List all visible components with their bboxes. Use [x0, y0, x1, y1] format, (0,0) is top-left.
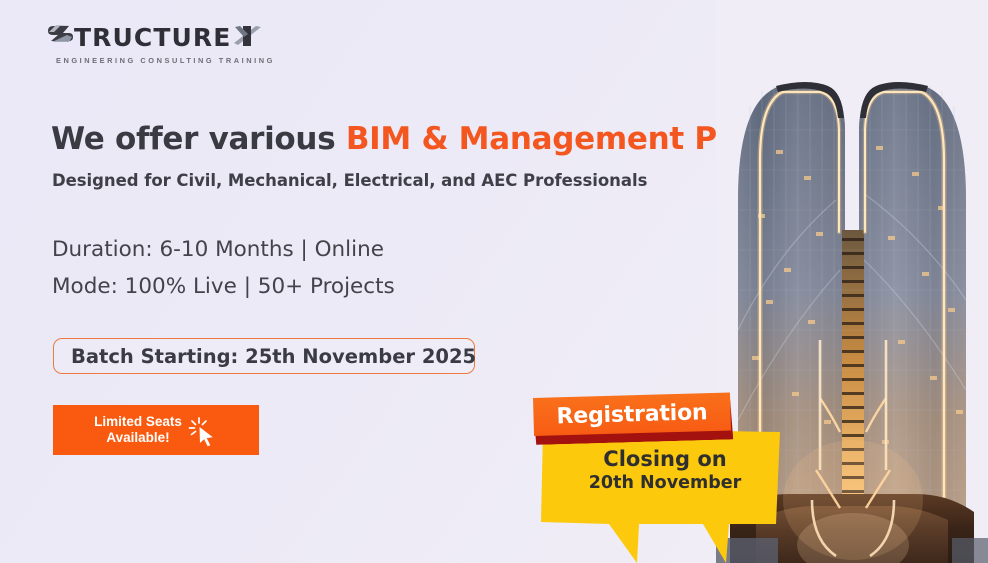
logo-svg: TRUCTURE — [47, 22, 262, 53]
logo-wordmark: TRUCTURE — [47, 22, 262, 52]
limited-seats-button[interactable]: Limited Seats Available! — [53, 405, 259, 455]
batch-starting-label: Batch Starting: 25th November 2025 — [71, 345, 476, 368]
batch-starting-box: Batch Starting: 25th November 2025 — [53, 338, 475, 374]
registration-ribbon: Registration — [533, 392, 733, 440]
click-cursor-icon — [188, 416, 218, 448]
stylized-x-mark-icon — [234, 26, 261, 46]
registration-label: Registration — [556, 400, 708, 429]
stylized-s-swoosh-icon — [48, 25, 73, 42]
logo-tagline: ENGINEERING CONSULTING TRAINING — [56, 56, 275, 65]
headline-lead: We offer various — [51, 121, 346, 157]
page-subtitle: Designed for Civil, Mechanical, Electric… — [52, 171, 647, 190]
registration-callout: Registration Closing on 20th November — [527, 396, 789, 563]
brand-logo[interactable]: TRUCTURE ENGINEERING CONSULTING TRAINING — [47, 22, 262, 72]
promo-banner: TRUCTURE ENGINEERING CONSULTING TRAINING… — [0, 0, 988, 563]
detail-line-mode: Mode: 100% Live | 50+ Projects — [52, 268, 395, 305]
detail-line-duration: Duration: 6-10 Months | Online — [52, 231, 395, 268]
seats-line-2: Available! — [106, 430, 169, 445]
callout-text-block: Closing on 20th November — [565, 446, 765, 494]
closing-date: 20th November — [565, 472, 765, 494]
course-details: Duration: 6-10 Months | Online Mode: 100… — [52, 231, 395, 305]
limited-seats-label: Limited Seats Available! — [94, 414, 182, 446]
closing-label: Closing on — [565, 446, 765, 472]
ribbon-face: Registration — [533, 392, 731, 435]
svg-text:TRUCTURE: TRUCTURE — [74, 23, 231, 52]
seats-line-1: Limited Seats — [94, 414, 182, 429]
